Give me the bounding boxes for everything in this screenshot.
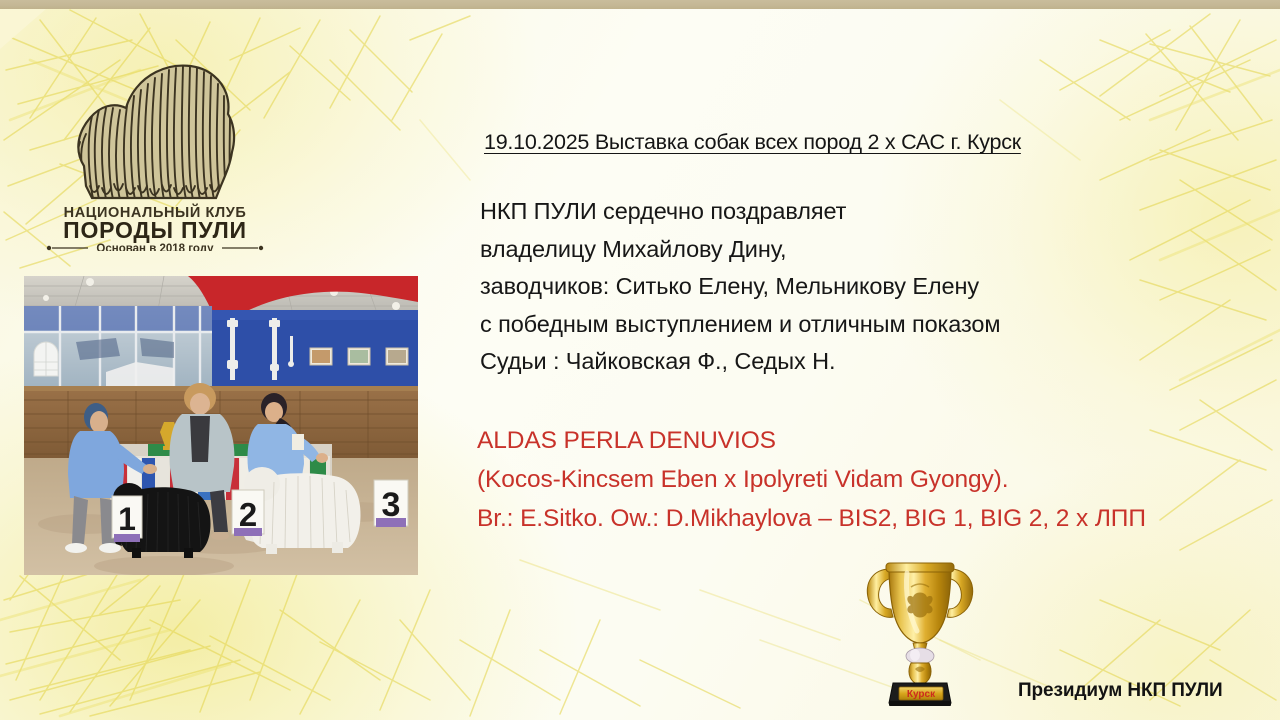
corner-fold-decoration — [0, 9, 46, 49]
logo-line-3: Основан в 2018 году — [96, 243, 214, 251]
body-line-1: НКП ПУЛИ сердечно поздравляет — [480, 193, 1000, 231]
svg-text:1: 1 — [118, 501, 136, 537]
footer-signature: Президиум НКП ПУЛИ — [1018, 680, 1223, 702]
placard-2: 2 — [232, 490, 264, 536]
trophy-plate-text: Курск — [907, 689, 936, 700]
logo-line-2: ПОРОДЫ ПУЛИ — [63, 217, 247, 243]
award-pedigree: (Kocos-Kincsem Eben x Ipolyreti Vidam Gy… — [477, 460, 1146, 499]
placard-1: 1 — [112, 496, 142, 542]
body-line-4: с победным выступлением и отличным показ… — [480, 306, 1000, 344]
event-headline: 19.10.2025 Выставка собак всех пород 2 х… — [484, 130, 1021, 155]
placard-3: 3 — [374, 480, 408, 527]
top-border-bar — [0, 0, 1280, 9]
award-text-block: ALDAS PERLA DENUVIOS (Kocos-Kincsem Eben… — [477, 421, 1146, 538]
gold-trophy-cup: Курск — [855, 543, 985, 706]
award-dog-name: ALDAS PERLA DENUVIOS — [477, 421, 1146, 460]
slide-canvas: НАЦИОНАЛЬНЫЙ КЛУБ ПОРОДЫ ПУЛИ Основан в … — [0, 0, 1280, 720]
body-line-5: Судьи : Чайковская Ф., Седых Н. — [480, 343, 1000, 381]
congratulation-text-block: НКП ПУЛИ сердечно поздравляет владелицу … — [480, 193, 1000, 381]
body-line-3: заводчиков: Ситько Елену, Мельникову Еле… — [480, 268, 1000, 306]
svg-text:2: 2 — [239, 496, 257, 533]
body-line-2: владелицу Михайлову Дину, — [480, 231, 1000, 269]
award-titles: Br.: E.Sitko. Ow.: D.Mikhaylova – BIS2, … — [477, 499, 1146, 538]
nkp-puli-club-logo: НАЦИОНАЛЬНЫЙ КЛУБ ПОРОДЫ ПУЛИ Основан в … — [44, 46, 266, 251]
dog-show-ring-photo: 1 2 3 — [24, 276, 418, 575]
